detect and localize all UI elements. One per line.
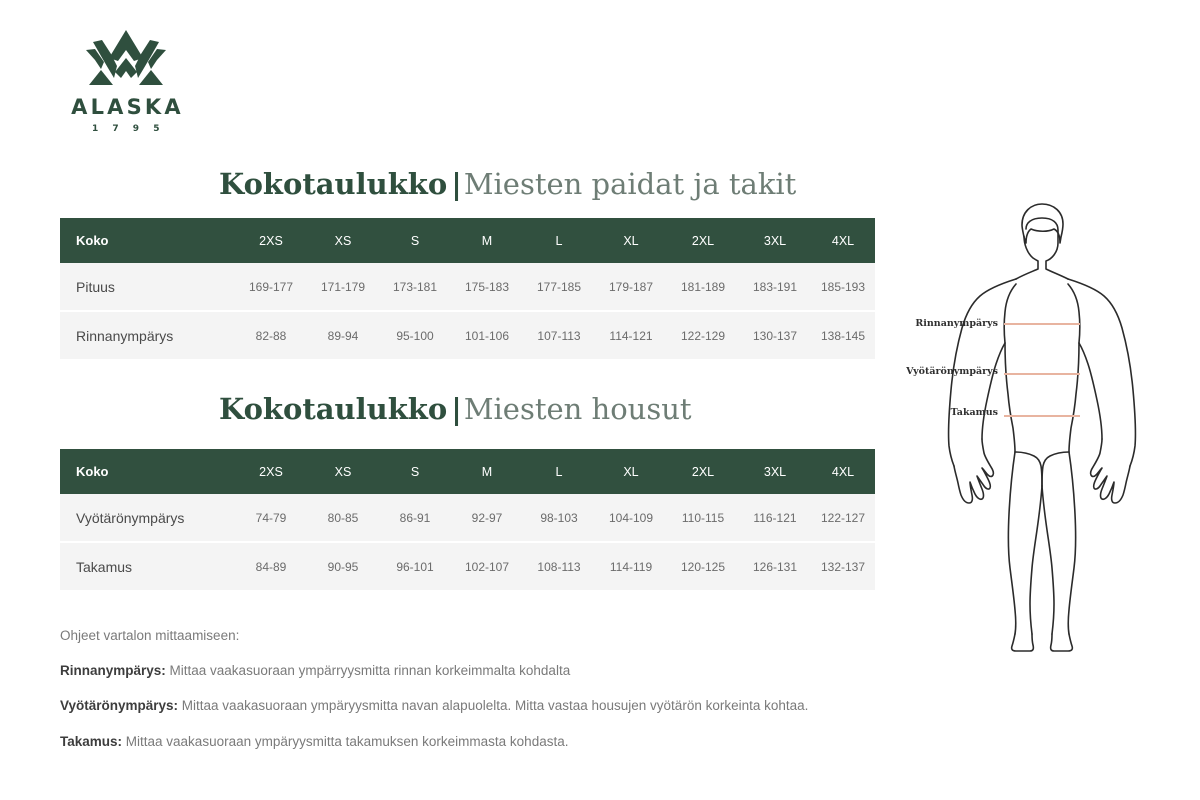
cell-value: 175-183 — [451, 263, 523, 311]
cell-value: 116-121 — [739, 494, 811, 542]
column-header-2xs: 2XS — [235, 218, 307, 263]
column-header-2xs: 2XS — [235, 449, 307, 494]
section-title-separator: | — [451, 392, 462, 426]
cell-value: 80-85 — [307, 494, 379, 542]
cell-value: 74-79 — [235, 494, 307, 542]
section-title-strong: Kokotaulukko — [219, 167, 447, 201]
cell-value: 130-137 — [739, 311, 811, 359]
section-title-shirts: Kokotaulukko|Miesten paidat ja takit — [219, 170, 796, 199]
table-header-row: Koko 2XS XS S M L XL 2XL 3XL 4XL — [60, 218, 875, 263]
section-title-pants: Kokotaulukko|Miesten housut — [219, 395, 692, 424]
column-header-koko: Koko — [60, 218, 235, 263]
column-header-s: S — [379, 218, 451, 263]
cell-value: 185-193 — [811, 263, 875, 311]
row-label-takamus: Takamus — [60, 542, 235, 590]
column-header-2xl: 2XL — [667, 218, 739, 263]
column-header-xs: XS — [307, 218, 379, 263]
instructions-lead: Ohjeet vartalon mittaamiseen: — [60, 628, 920, 644]
brand-name: ALASKA — [69, 97, 186, 118]
section-title-separator: | — [451, 167, 462, 201]
cell-value: 173-181 — [379, 263, 451, 311]
measuring-instructions: Ohjeet vartalon mittaamiseen: Rinnanympä… — [60, 628, 920, 769]
column-header-s: S — [379, 449, 451, 494]
cell-value: 126-131 — [739, 542, 811, 590]
size-table-pants: Koko 2XS XS S M L XL 2XL 3XL 4XL Vyötärö… — [60, 449, 875, 590]
table-row: Vyötärönympärys 74-79 80-85 86-91 92-97 … — [60, 494, 875, 542]
instruction-text: Mittaa vaakasuoraan ympärryysmitta rinna… — [166, 663, 570, 678]
column-header-3xl: 3XL — [739, 218, 811, 263]
column-header-2xl: 2XL — [667, 449, 739, 494]
male-body-outline-icon — [900, 196, 1180, 656]
instruction-term: Vyötärönympärys: — [60, 698, 178, 713]
body-measurement-diagram: Rinnanympärys Vyötärönympärys Takamus — [900, 196, 1180, 656]
cell-value: 98-103 — [523, 494, 595, 542]
column-header-m: M — [451, 218, 523, 263]
cell-value: 95-100 — [379, 311, 451, 359]
cell-value: 120-125 — [667, 542, 739, 590]
cell-value: 90-95 — [307, 542, 379, 590]
cell-value: 114-119 — [595, 542, 667, 590]
cell-value: 108-113 — [523, 542, 595, 590]
column-header-4xl: 4XL — [811, 449, 875, 494]
section-title-light: Miesten housut — [464, 392, 692, 426]
cell-value: 183-191 — [739, 263, 811, 311]
instruction-waist: Vyötärönympärys: Mittaa vaakasuoraan ymp… — [60, 698, 920, 714]
cell-value: 107-113 — [523, 311, 595, 359]
section-title-strong: Kokotaulukko — [219, 392, 447, 426]
column-header-xl: XL — [595, 449, 667, 494]
cell-value: 122-127 — [811, 494, 875, 542]
cell-value: 84-89 — [235, 542, 307, 590]
cell-value: 114-121 — [595, 311, 667, 359]
cell-value: 82-88 — [235, 311, 307, 359]
cell-value: 122-129 — [667, 311, 739, 359]
table-row: Rinnanympärys 82-88 89-94 95-100 101-106… — [60, 311, 875, 359]
instruction-term: Takamus: — [60, 734, 122, 749]
instruction-chest: Rinnanympärys: Mittaa vaakasuoraan ympär… — [60, 663, 920, 679]
column-header-l: L — [523, 218, 595, 263]
table-row: Takamus 84-89 90-95 96-101 102-107 108-1… — [60, 542, 875, 590]
cell-value: 138-145 — [811, 311, 875, 359]
column-header-3xl: 3XL — [739, 449, 811, 494]
table-header-row: Koko 2XS XS S M L XL 2XL 3XL 4XL — [60, 449, 875, 494]
section-title-light: Miesten paidat ja takit — [464, 167, 797, 201]
cell-value: 132-137 — [811, 542, 875, 590]
cell-value: 92-97 — [451, 494, 523, 542]
instruction-text: Mittaa vaakasuoraan ympäryysmitta takamu… — [122, 734, 568, 749]
column-header-l: L — [523, 449, 595, 494]
cell-value: 104-109 — [595, 494, 667, 542]
column-header-4xl: 4XL — [811, 218, 875, 263]
cell-value: 86-91 — [379, 494, 451, 542]
cell-value: 96-101 — [379, 542, 451, 590]
row-label-pituus: Pituus — [60, 263, 235, 311]
row-label-vyotaronymparys: Vyötärönympärys — [60, 494, 235, 542]
table-row: Pituus 169-177 171-179 173-181 175-183 1… — [60, 263, 875, 311]
column-header-xs: XS — [307, 449, 379, 494]
brand-year: 1 7 9 5 — [71, 125, 186, 134]
cell-value: 179-187 — [595, 263, 667, 311]
mountain-antler-logo-icon — [71, 28, 181, 93]
column-header-xl: XL — [595, 218, 667, 263]
cell-value: 89-94 — [307, 311, 379, 359]
cell-value: 177-185 — [523, 263, 595, 311]
cell-value: 169-177 — [235, 263, 307, 311]
cell-value: 102-107 — [451, 542, 523, 590]
size-table-shirts: Koko 2XS XS S M L XL 2XL 3XL 4XL Pituus … — [60, 218, 875, 359]
row-label-rinnanymparys: Rinnanympärys — [60, 311, 235, 359]
instruction-seat: Takamus: Mittaa vaakasuoraan ympäryysmit… — [60, 734, 920, 750]
cell-value: 110-115 — [667, 494, 739, 542]
column-header-m: M — [451, 449, 523, 494]
brand-logo: ALASKA 1 7 9 5 — [66, 28, 186, 134]
cell-value: 171-179 — [307, 263, 379, 311]
cell-value: 101-106 — [451, 311, 523, 359]
cell-value: 181-189 — [667, 263, 739, 311]
column-header-koko: Koko — [60, 449, 235, 494]
instruction-term: Rinnanympärys: — [60, 663, 166, 678]
instruction-text: Mittaa vaakasuoraan ympäryysmitta navan … — [178, 698, 808, 713]
